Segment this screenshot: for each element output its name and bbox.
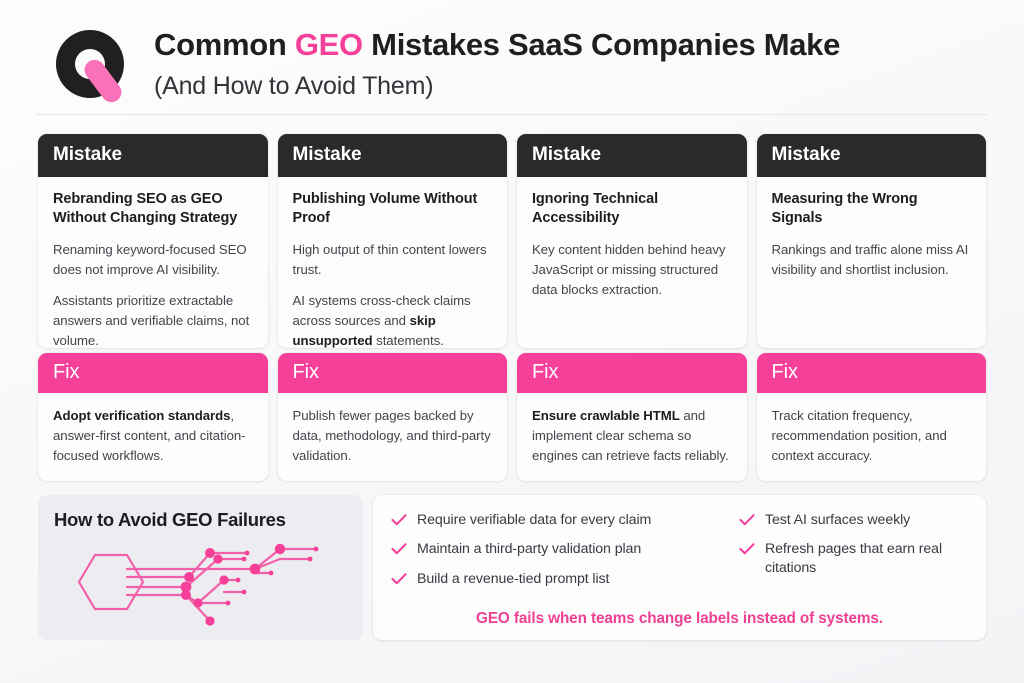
fix-body-4: Track citation frequency, recommendation…: [757, 393, 987, 481]
fix-text-2: Publish fewer pages backed by data, meth…: [293, 406, 493, 466]
fix-body-1: Adopt verification standards, answer-fir…: [38, 393, 268, 481]
fix-header-3: Fix: [517, 353, 747, 393]
tagline: GEO fails when teams change labels inste…: [391, 604, 968, 628]
card-paragraph: Rankings and traffic alone miss AI visib…: [772, 240, 972, 280]
list-item: Build a revenue-tied prompt list: [391, 570, 721, 590]
title-block: Common GEO Mistakes SaaS Companies Make …: [154, 22, 840, 101]
list-item-label: Require verifiable data for every claim: [417, 511, 651, 529]
checklist-panel: Require verifiable data for every claim …: [373, 495, 986, 640]
mistake-card-3: Mistake Ignoring Technical Accessibility…: [517, 134, 747, 348]
list-item-label: Refresh pages that earn real citations: [765, 540, 968, 577]
brand-logo-icon: [50, 24, 134, 108]
mistake-title-4: Measuring the Wrong Signals: [772, 190, 972, 229]
check-icon: [739, 542, 755, 560]
page-subtitle: (And How to Avoid Them): [154, 71, 840, 101]
avoid-failures-panel: How to Avoid GEO Failures: [38, 495, 363, 640]
mistake-header-1: Mistake: [38, 134, 268, 177]
fix-text-1: Adopt verification standards, answer-fir…: [53, 406, 253, 466]
card-paragraph: Key content hidden behind heavy JavaScri…: [532, 240, 732, 300]
list-item: Test AI surfaces weekly: [739, 511, 968, 531]
mistake-title-2: Publishing Volume Without Proof: [293, 190, 493, 229]
fix-body-2: Publish fewer pages backed by data, meth…: [278, 393, 508, 481]
card-paragraph: High output of thin content lowers trust…: [293, 240, 493, 280]
avoid-failures-title: How to Avoid GEO Failures: [54, 509, 347, 531]
list-item: Require verifiable data for every claim: [391, 511, 721, 531]
column-3: Mistake Ignoring Technical Accessibility…: [517, 134, 747, 481]
check-icon: [739, 513, 755, 531]
fix-text-3: Ensure crawlable HTML and implement clea…: [532, 406, 732, 466]
mistake-paragraphs-2: High output of thin content lowers trust…: [293, 240, 493, 348]
checklist-column-1: Require verifiable data for every claim …: [391, 511, 721, 604]
bottom-section: How to Avoid GEO Failures: [38, 495, 986, 640]
mistake-body-1: Rebranding SEO as GEO Without Changing S…: [38, 177, 268, 348]
mistake-header-3: Mistake: [517, 134, 747, 177]
mistake-card-2: Mistake Publishing Volume Without Proof …: [278, 134, 508, 348]
check-icon: [391, 513, 407, 531]
mistake-paragraphs-4: Rankings and traffic alone miss AI visib…: [772, 240, 972, 280]
mistake-body-3: Ignoring Technical Accessibility Key con…: [517, 177, 747, 348]
list-item-label: Build a revenue-tied prompt list: [417, 570, 609, 588]
header: Common GEO Mistakes SaaS Companies Make …: [0, 0, 1024, 104]
list-item-label: Test AI surfaces weekly: [765, 511, 910, 529]
check-icon: [391, 542, 407, 560]
mistake-paragraphs-1: Renaming keyword-focused SEO does not im…: [53, 240, 253, 348]
fix-body-3: Ensure crawlable HTML and implement clea…: [517, 393, 747, 481]
mistake-paragraphs-3: Key content hidden behind heavy JavaScri…: [532, 240, 732, 300]
list-item: Refresh pages that earn real citations: [739, 540, 968, 577]
card-paragraph: AI systems cross-check claims across sou…: [293, 291, 493, 348]
check-icon: [391, 572, 407, 590]
mistake-body-4: Measuring the Wrong Signals Rankings and…: [757, 177, 987, 348]
card-paragraph: Assistants prioritize extractable answer…: [53, 291, 253, 348]
mistake-card-1: Mistake Rebranding SEO as GEO Without Ch…: [38, 134, 268, 348]
checklist-columns: Require verifiable data for every claim …: [391, 511, 968, 604]
infographic-page: Common GEO Mistakes SaaS Companies Make …: [0, 0, 1024, 683]
column-2: Mistake Publishing Volume Without Proof …: [278, 134, 508, 481]
mistake-header-4: Mistake: [757, 134, 987, 177]
list-item: Maintain a third-party validation plan: [391, 540, 721, 560]
fix-text-4: Track citation frequency, recommendation…: [772, 406, 972, 466]
title-post: Mistakes SaaS Companies Make: [363, 27, 840, 62]
card-paragraph: Renaming keyword-focused SEO does not im…: [53, 240, 253, 280]
title-pre: Common: [154, 27, 295, 62]
fix-header-1: Fix: [38, 353, 268, 393]
mistake-card-4: Mistake Measuring the Wrong Signals Rank…: [757, 134, 987, 348]
column-1: Mistake Rebranding SEO as GEO Without Ch…: [38, 134, 268, 481]
mistake-title-1: Rebranding SEO as GEO Without Changing S…: [53, 190, 253, 229]
mistake-header-2: Mistake: [278, 134, 508, 177]
fix-header-4: Fix: [757, 353, 987, 393]
mistake-body-2: Publishing Volume Without Proof High out…: [278, 177, 508, 348]
title-accent-geo: GEO: [295, 27, 363, 62]
page-title: Common GEO Mistakes SaaS Companies Make: [154, 28, 840, 63]
fix-card-2: Fix Publish fewer pages backed by data, …: [278, 353, 508, 481]
column-4: Mistake Measuring the Wrong Signals Rank…: [757, 134, 987, 481]
cards-grid: Mistake Rebranding SEO as GEO Without Ch…: [0, 115, 1024, 481]
fix-header-2: Fix: [278, 353, 508, 393]
mistake-title-3: Ignoring Technical Accessibility: [532, 190, 732, 229]
fix-card-3: Fix Ensure crawlable HTML and implement …: [517, 353, 747, 481]
list-item-label: Maintain a third-party validation plan: [417, 540, 641, 558]
fix-card-4: Fix Track citation frequency, recommenda…: [757, 353, 987, 481]
hexagon-network-icon: [58, 535, 343, 629]
fix-card-1: Fix Adopt verification standards, answer…: [38, 353, 268, 481]
checklist-column-2: Test AI surfaces weekly Refresh pages th…: [739, 511, 968, 604]
